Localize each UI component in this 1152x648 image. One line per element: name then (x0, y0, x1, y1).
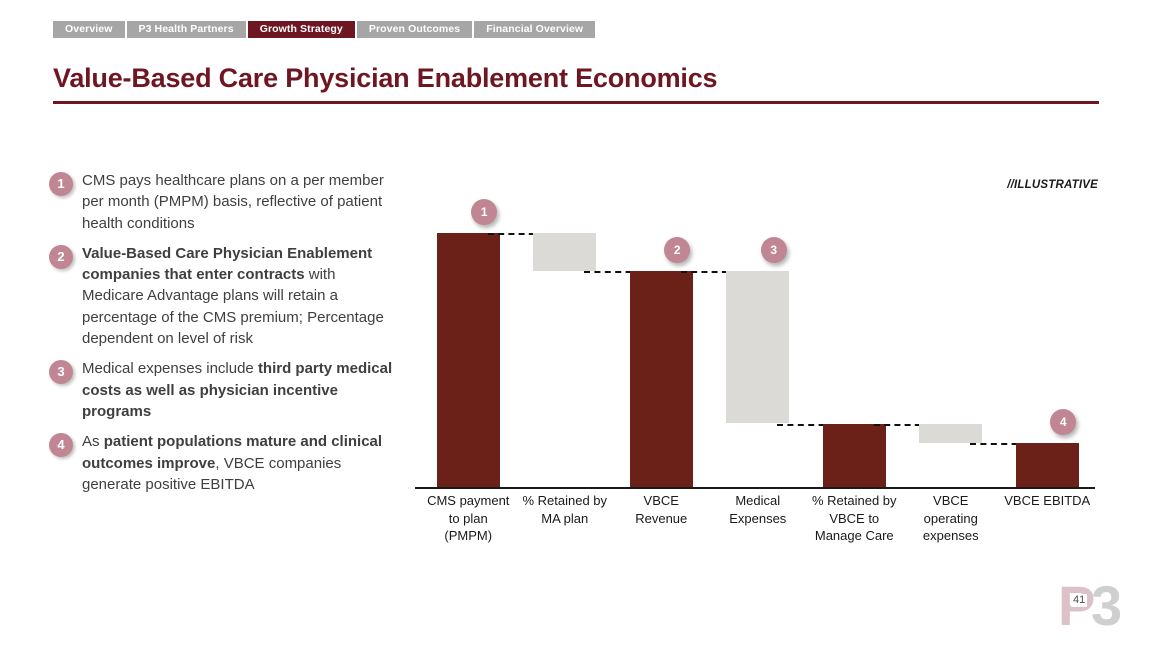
p3-logo: P 3 41 (1058, 580, 1132, 632)
nav-tab-proven-outcomes[interactable]: Proven Outcomes (357, 21, 472, 38)
nav-tab-overview[interactable]: Overview (53, 21, 125, 38)
bullet-item: 1CMS pays healthcare plans on a per memb… (49, 170, 394, 234)
nav-tab-p3-health-partners[interactable]: P3 Health Partners (127, 21, 246, 38)
bullet-number-badge: 3 (49, 360, 73, 384)
bar-vbce-operating-expenses (919, 424, 982, 443)
chart-callout-badge-2: 2 (664, 237, 690, 263)
x-axis-label: VBCE operating expenses (896, 492, 1007, 545)
bullet-number-badge: 2 (49, 245, 73, 269)
bullet-list: 1CMS pays healthcare plans on a per memb… (49, 170, 394, 504)
chart-callout-badge-3: 3 (761, 237, 787, 263)
bar--retained-by-vbce-to-manage-care (823, 424, 886, 488)
page-title: Value-Based Care Physician Enablement Ec… (53, 63, 717, 94)
x-axis-label: CMS payment to plan (PMPM) (413, 492, 524, 545)
x-axis-line (415, 487, 1095, 489)
bullet-item: 2Value-Based Care Physician Enablement c… (49, 243, 394, 349)
bullet-text: Medical expenses include third party med… (82, 358, 394, 422)
bullet-item: 4As patient populations mature and clini… (49, 431, 394, 495)
chart-callout-badge-4: 4 (1050, 409, 1076, 435)
nav-tab-financial-overview[interactable]: Financial Overview (474, 21, 595, 38)
bar-cms-payment-to-plan-pmpm- (437, 233, 500, 487)
x-axis-labels: CMS payment to plan (PMPM)% Retained by … (410, 492, 1110, 550)
x-axis-label: Medical Expenses (703, 492, 814, 527)
bar-medical-expenses (726, 271, 789, 423)
waterfall-chart: //ILLUSTRATIVE 1234 CMS payment to plan … (410, 170, 1110, 550)
bullet-text: Value-Based Care Physician Enablement co… (82, 243, 394, 349)
bullet-number-badge: 1 (49, 172, 73, 196)
bullet-item: 3Medical expenses include third party me… (49, 358, 394, 422)
chart-callout-badge-1: 1 (471, 199, 497, 225)
bar--retained-by-ma-plan (533, 233, 596, 271)
bullet-text: CMS pays healthcare plans on a per membe… (82, 170, 394, 234)
nav-tab-growth-strategy[interactable]: Growth Strategy (248, 21, 355, 38)
title-underline-rule (53, 101, 1099, 104)
nav-tab-bar: OverviewP3 Health PartnersGrowth Strateg… (53, 21, 595, 38)
bar-vbce-ebitda (1016, 443, 1079, 487)
x-axis-label: VBCE Revenue (606, 492, 717, 527)
x-axis-label: VBCE EBITDA (992, 492, 1103, 510)
page-number: 41 (1071, 594, 1087, 607)
bullet-text: As patient populations mature and clinic… (82, 431, 394, 495)
bar-vbce-revenue (630, 271, 693, 487)
bullet-number-badge: 4 (49, 433, 73, 457)
x-axis-label: % Retained by VBCE to Manage Care (799, 492, 910, 545)
logo-letter-3: 3 (1091, 580, 1120, 632)
chart-plot-area: 1234 (410, 170, 1110, 490)
x-axis-label: % Retained by MA plan (510, 492, 621, 527)
